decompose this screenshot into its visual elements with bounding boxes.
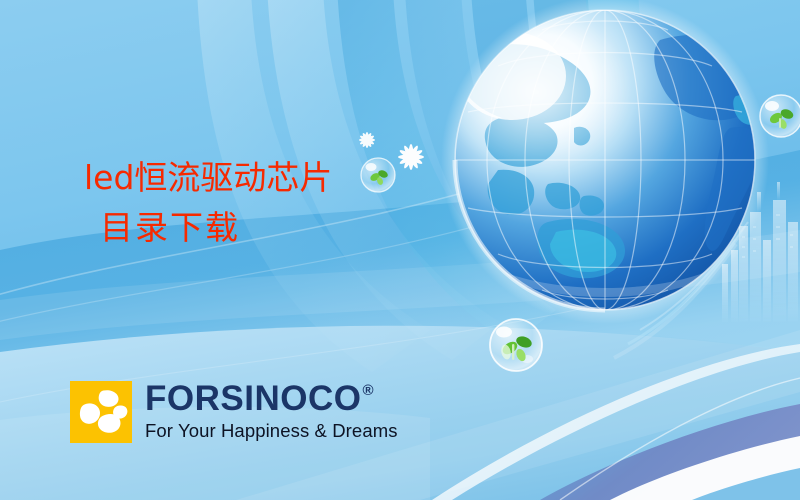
promo-banner: led恒流驱动芯片 目录下载 FORSINOCO ® For Your Happ… bbox=[0, 0, 800, 500]
bubble-with-leaf-upper bbox=[361, 158, 395, 192]
company-logo: FORSINOCO ® For Your Happiness & Dreams bbox=[70, 381, 398, 443]
brand-tagline: For Your Happiness & Dreams bbox=[145, 420, 398, 442]
globe bbox=[440, 0, 770, 324]
bubble-with-leaf-lower bbox=[490, 319, 542, 371]
logo-wordmark: FORSINOCO ® For Your Happiness & Dreams bbox=[145, 381, 398, 442]
brand-name: FORSINOCO bbox=[145, 382, 361, 416]
bubble-with-leaf-right bbox=[760, 95, 800, 137]
registered-trademark-symbol: ® bbox=[362, 383, 373, 398]
forsinoco-pinwheel-mark bbox=[70, 381, 132, 443]
brand-row: FORSINOCO ® bbox=[145, 382, 398, 416]
